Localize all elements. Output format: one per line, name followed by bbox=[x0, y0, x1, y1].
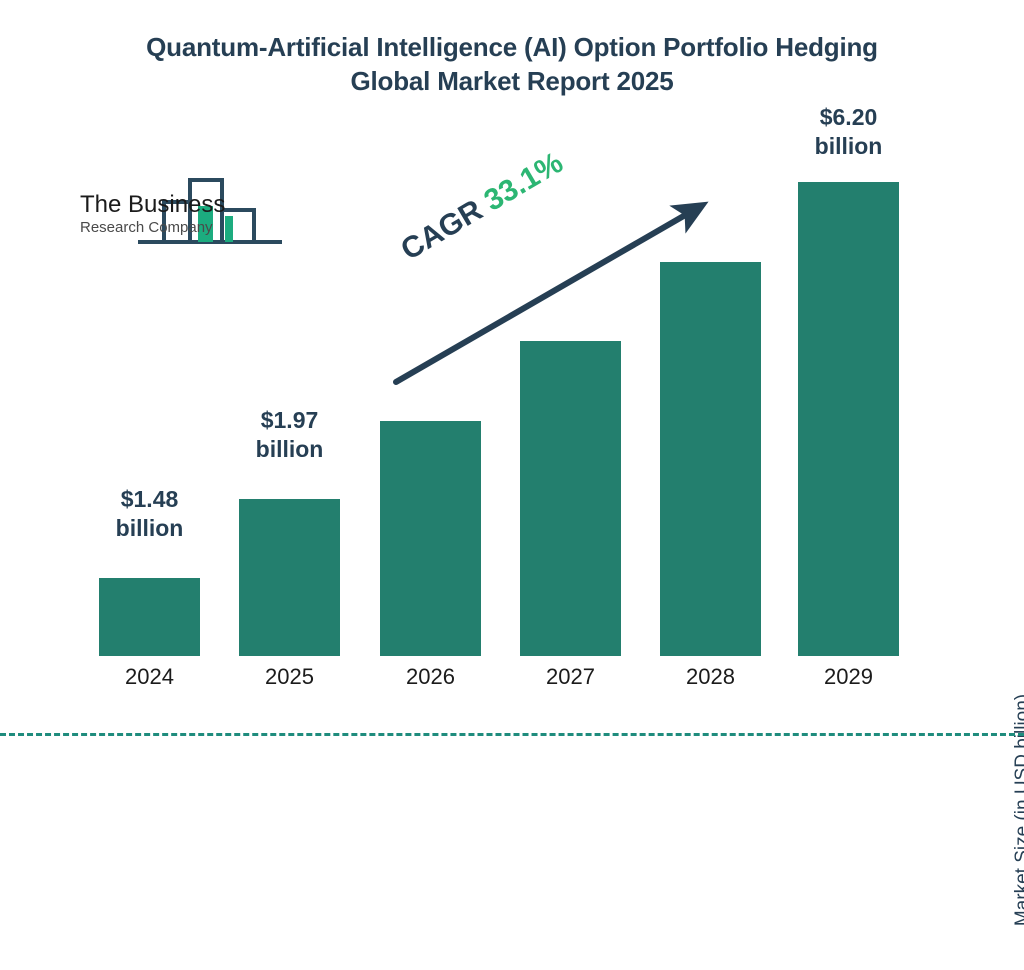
market-size-chart: Quantum-Artificial Intelligence (AI) Opt… bbox=[0, 0, 1024, 768]
cagr-growth-arrow bbox=[370, 185, 730, 400]
x-tick-2026: 2026 bbox=[370, 664, 491, 690]
x-tick-2028: 2028 bbox=[650, 664, 771, 690]
x-tick-2025: 2025 bbox=[229, 664, 350, 690]
x-tick-2029: 2029 bbox=[788, 664, 909, 690]
bar-2024[interactable] bbox=[99, 578, 200, 656]
bar-2026[interactable] bbox=[380, 421, 481, 656]
y-axis-title: Market Size (in USD billion) bbox=[1012, 650, 1024, 970]
x-tick-2027: 2027 bbox=[510, 664, 631, 690]
bar-value-label-2024: $1.48 billion bbox=[79, 485, 220, 544]
bar-value-label-2025: $1.97 billion bbox=[219, 406, 360, 465]
footer-divider bbox=[0, 733, 1024, 736]
bar-2025[interactable] bbox=[239, 499, 340, 656]
x-tick-2024: 2024 bbox=[89, 664, 210, 690]
bar-value-label-2029: $6.20 billion bbox=[778, 103, 919, 162]
bar-2029[interactable] bbox=[798, 182, 899, 656]
arrow-icon bbox=[370, 185, 730, 400]
